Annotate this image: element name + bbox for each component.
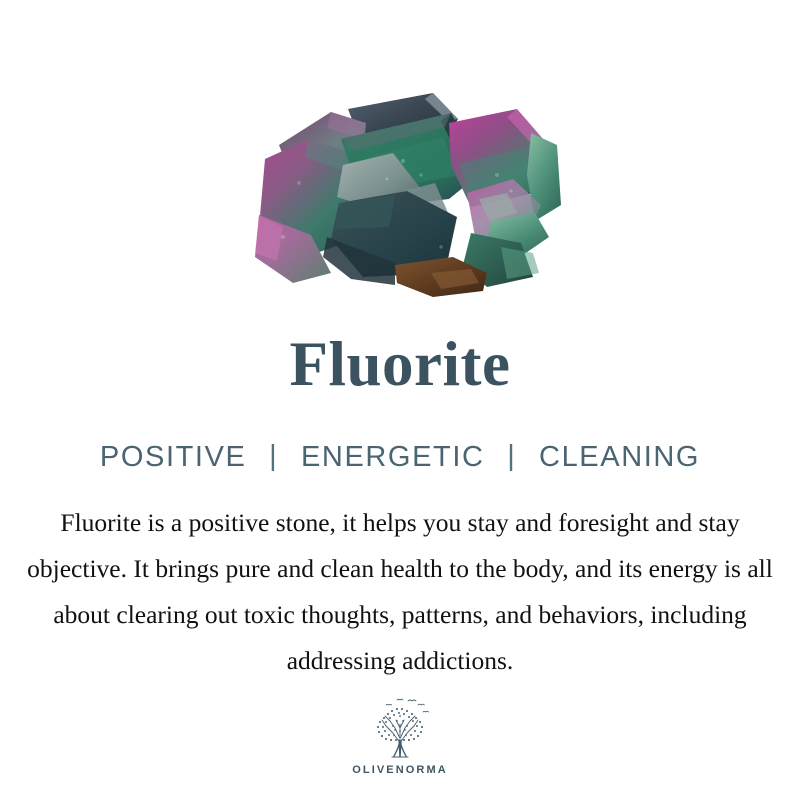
olive-tree-icon <box>364 694 436 762</box>
brand-logo: OLIVENORMA <box>0 694 800 776</box>
specimen-image-container <box>0 0 800 320</box>
page-title: Fluorite <box>0 333 800 396</box>
product-info-card: Fluorite POSITIVE | ENERGETIC | CLEANING… <box>0 0 800 800</box>
keyword-separator: | <box>256 440 291 473</box>
description-paragraph: Fluorite is a positive stone, it helps y… <box>0 500 800 684</box>
keyword-cleaning: CLEANING <box>539 441 700 474</box>
keyword-list: POSITIVE | ENERGETIC | CLEANING <box>0 441 800 474</box>
keyword-separator: | <box>494 440 529 473</box>
fluorite-crystal-cluster <box>235 87 565 302</box>
keyword-positive: POSITIVE <box>100 441 247 474</box>
keyword-energetic: ENERGETIC <box>301 441 485 474</box>
brand-wordmark: OLIVENORMA <box>352 764 448 776</box>
